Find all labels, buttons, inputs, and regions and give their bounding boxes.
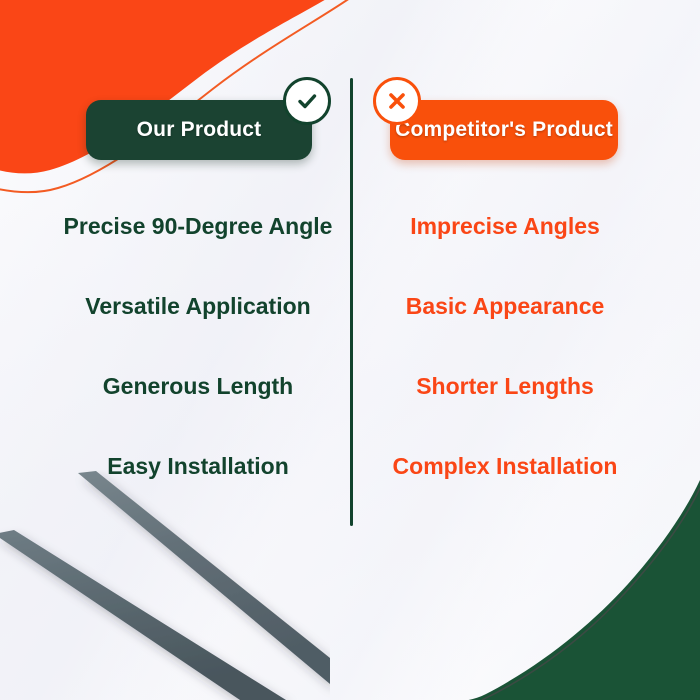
x-circle-icon xyxy=(373,77,421,125)
competitor-feature-list: Imprecise Angles Basic Appearance Shorte… xyxy=(355,186,655,506)
list-item: Versatile Application xyxy=(48,266,348,346)
list-item: Shorter Lengths xyxy=(355,346,655,426)
comparison-infographic: Our Product Competitor's Product Precise… xyxy=(0,0,700,700)
competitor-product-header[interactable]: Competitor's Product xyxy=(390,100,618,160)
list-item: Complex Installation xyxy=(355,426,655,506)
list-item: Imprecise Angles xyxy=(355,186,655,266)
our-product-feature-list: Precise 90-Degree Angle Versatile Applic… xyxy=(48,186,348,506)
check-circle-icon xyxy=(283,77,331,125)
list-item: Easy Installation xyxy=(48,426,348,506)
list-item: Generous Length xyxy=(48,346,348,426)
list-item: Basic Appearance xyxy=(355,266,655,346)
column-divider xyxy=(350,78,353,526)
list-item: Precise 90-Degree Angle xyxy=(48,186,348,266)
green-corner-shape xyxy=(400,480,700,700)
our-product-header[interactable]: Our Product xyxy=(86,100,312,160)
